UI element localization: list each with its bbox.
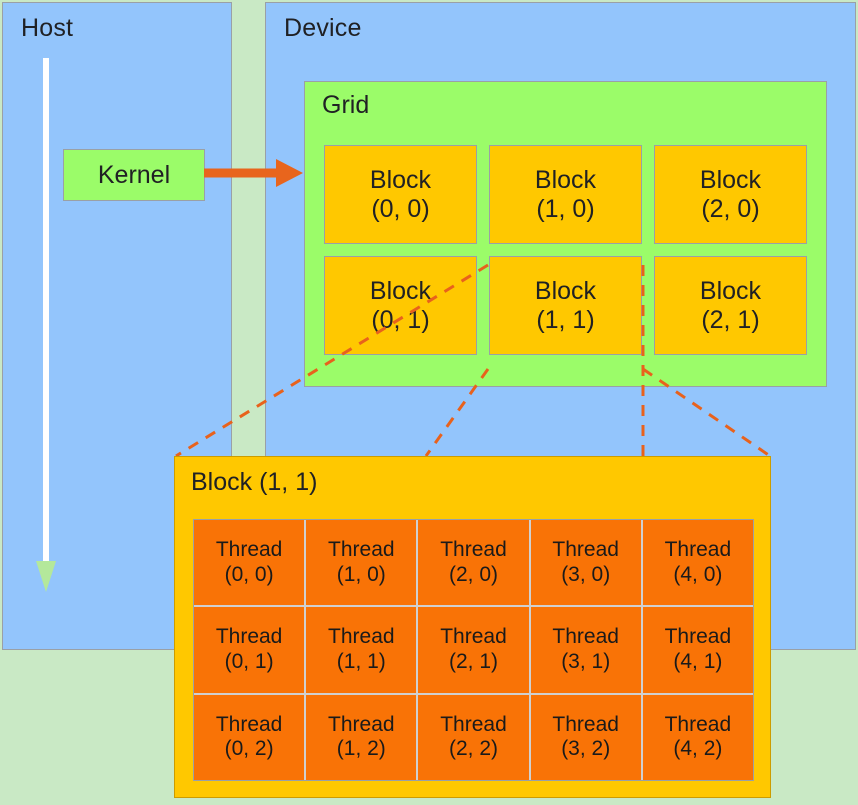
- thread-coord: (1, 2): [337, 737, 386, 762]
- thread-coord: (3, 2): [561, 737, 610, 762]
- execution-flow-arrow: [35, 58, 57, 593]
- thread-cell-3-2[interactable]: Thread (3, 2): [531, 695, 641, 780]
- thread-cell-1-2[interactable]: Thread (1, 2): [306, 695, 416, 780]
- thread-name: Thread: [552, 713, 619, 738]
- thread-cell-2-0[interactable]: Thread (2, 0): [418, 520, 528, 605]
- thread-name: Thread: [440, 713, 507, 738]
- thread-cell-1-1[interactable]: Thread (1, 1): [306, 607, 416, 692]
- grid-block-2-0[interactable]: Block (2, 0): [654, 145, 807, 244]
- thread-cell-0-1[interactable]: Thread (0, 1): [194, 607, 304, 692]
- block-name: Block: [700, 166, 761, 195]
- block-name: Block: [370, 277, 431, 306]
- thread-coord: (4, 1): [673, 650, 722, 675]
- thread-name: Thread: [440, 538, 507, 563]
- thread-cell-4-2[interactable]: Thread (4, 2): [643, 695, 753, 780]
- block-name: Block: [535, 166, 596, 195]
- grid-block-1-0[interactable]: Block (1, 0): [489, 145, 642, 244]
- thread-coord: (2, 0): [449, 563, 498, 588]
- thread-cell-1-0[interactable]: Thread (1, 0): [306, 520, 416, 605]
- thread-coord: (3, 0): [561, 563, 610, 588]
- thread-cell-0-2[interactable]: Thread (0, 2): [194, 695, 304, 780]
- thread-coord: (2, 2): [449, 737, 498, 762]
- grid-block-2-1[interactable]: Block (2, 1): [654, 256, 807, 355]
- block-name: Block: [700, 277, 761, 306]
- thread-name: Thread: [216, 625, 283, 650]
- thread-name: Thread: [552, 538, 619, 563]
- thread-grid: Thread (0, 0) Thread (1, 0) Thread (2, 0…: [193, 519, 754, 781]
- thread-cell-0-0[interactable]: Thread (0, 0): [194, 520, 304, 605]
- thread-coord: (4, 0): [673, 563, 722, 588]
- thread-name: Thread: [665, 713, 732, 738]
- block-name: Block: [370, 166, 431, 195]
- block-coord: (1, 1): [536, 306, 594, 335]
- block-name: Block: [535, 277, 596, 306]
- grid-block-0-0[interactable]: Block (0, 0): [324, 145, 477, 244]
- block-coord: (2, 1): [701, 306, 759, 335]
- block-coord: (0, 1): [371, 306, 429, 335]
- thread-name: Thread: [216, 538, 283, 563]
- block-coord: (1, 0): [536, 195, 594, 224]
- kernel-label: Kernel: [98, 161, 170, 190]
- thread-cell-4-0[interactable]: Thread (4, 0): [643, 520, 753, 605]
- thread-cell-2-1[interactable]: Thread (2, 1): [418, 607, 528, 692]
- grid-block-0-1[interactable]: Block (0, 1): [324, 256, 477, 355]
- thread-coord: (1, 1): [337, 650, 386, 675]
- thread-coord: (0, 1): [225, 650, 274, 675]
- grid-title: Grid: [322, 91, 369, 120]
- thread-cell-3-0[interactable]: Thread (3, 0): [531, 520, 641, 605]
- block-detail-panel: Block (1, 1) Thread (0, 0) Thread (1, 0)…: [174, 456, 771, 798]
- diagram-canvas: Host Kernel Device Grid Block (0, 0) Blo…: [0, 0, 858, 805]
- thread-coord: (4, 2): [673, 737, 722, 762]
- thread-cell-2-2[interactable]: Thread (2, 2): [418, 695, 528, 780]
- thread-name: Thread: [216, 713, 283, 738]
- thread-name: Thread: [665, 538, 732, 563]
- host-panel-title: Host: [21, 14, 73, 43]
- thread-coord: (1, 0): [337, 563, 386, 588]
- grid-box: Grid Block (0, 0) Block (1, 0) Block (2,…: [304, 81, 827, 387]
- thread-coord: (0, 0): [225, 563, 274, 588]
- grid-block-list: Block (0, 0) Block (1, 0) Block (2, 0) B…: [324, 145, 808, 355]
- thread-name: Thread: [665, 625, 732, 650]
- thread-name: Thread: [328, 713, 395, 738]
- thread-name: Thread: [552, 625, 619, 650]
- thread-name: Thread: [328, 625, 395, 650]
- thread-cell-4-1[interactable]: Thread (4, 1): [643, 607, 753, 692]
- device-panel-title: Device: [284, 14, 362, 43]
- block-coord: (2, 0): [701, 195, 759, 224]
- thread-coord: (0, 2): [225, 737, 274, 762]
- block-detail-title: Block (1, 1): [191, 468, 317, 497]
- thread-name: Thread: [440, 625, 507, 650]
- kernel-box[interactable]: Kernel: [63, 149, 205, 201]
- thread-coord: (3, 1): [561, 650, 610, 675]
- thread-name: Thread: [328, 538, 395, 563]
- block-coord: (0, 0): [371, 195, 429, 224]
- thread-cell-3-1[interactable]: Thread (3, 1): [531, 607, 641, 692]
- grid-block-1-1[interactable]: Block (1, 1): [489, 256, 642, 355]
- thread-coord: (2, 1): [449, 650, 498, 675]
